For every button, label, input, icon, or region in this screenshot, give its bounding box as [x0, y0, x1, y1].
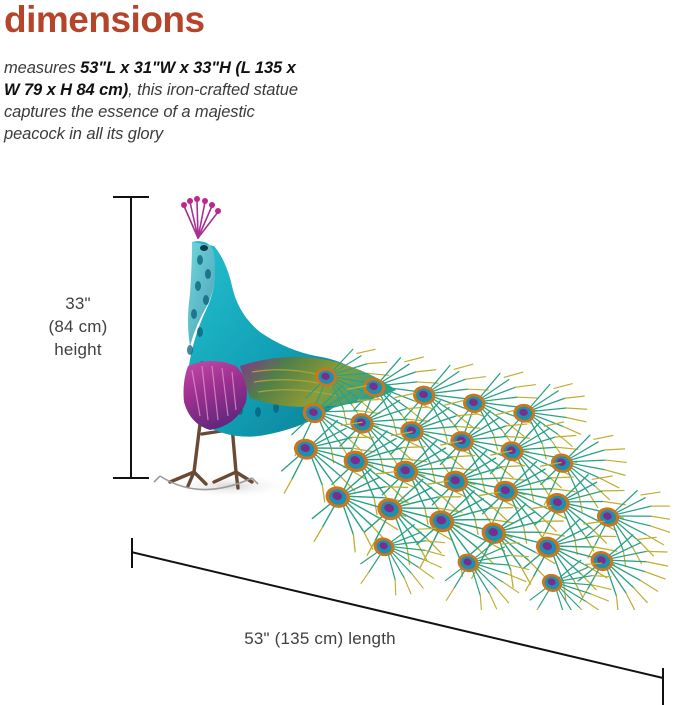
- peacock-crest: [181, 196, 221, 238]
- statue-base-wire: [154, 476, 258, 490]
- peacock-breast-plumes: [192, 366, 236, 420]
- peacock-eye: [200, 245, 208, 251]
- peacock-neck-pattern: [187, 255, 279, 417]
- statue-shadow: [168, 474, 292, 498]
- length-dimension-label: 53" (135 cm) length: [150, 628, 490, 650]
- peacock-covert-lines: [252, 370, 338, 396]
- statue-legs: [170, 424, 252, 488]
- description-text: measures 53"L x 31"W x 33"H (L 135 x W 7…: [4, 57, 314, 145]
- height-axis-label: height: [14, 338, 142, 361]
- height-dimension-label: 33" (84 cm) height: [14, 292, 142, 361]
- height-dimension-cap-bottom: [113, 477, 149, 479]
- peacock-breast: [184, 361, 247, 430]
- height-value-cm: (84 cm): [14, 315, 142, 338]
- page-title: dimensions: [4, 0, 205, 42]
- peacock-neck-highlight: [188, 241, 215, 346]
- length-dimension-cap-right: [662, 668, 664, 705]
- peacock-wing-coverts: [240, 357, 396, 407]
- length-dimension-cap-left: [131, 538, 133, 568]
- description-bold-inches: 53"L x 31"W x 33"H: [80, 59, 231, 77]
- peacock-body: [188, 241, 358, 436]
- length-dimension-line: [131, 530, 665, 690]
- dimensions-infographic: dimensions measures 53"L x 31"W x 33"H (…: [0, 0, 679, 705]
- peacock-tail-train: [276, 337, 670, 610]
- description-lead: measures: [4, 59, 80, 77]
- peacock-statue-image: [140, 190, 670, 610]
- height-value-inches: 33": [14, 292, 142, 315]
